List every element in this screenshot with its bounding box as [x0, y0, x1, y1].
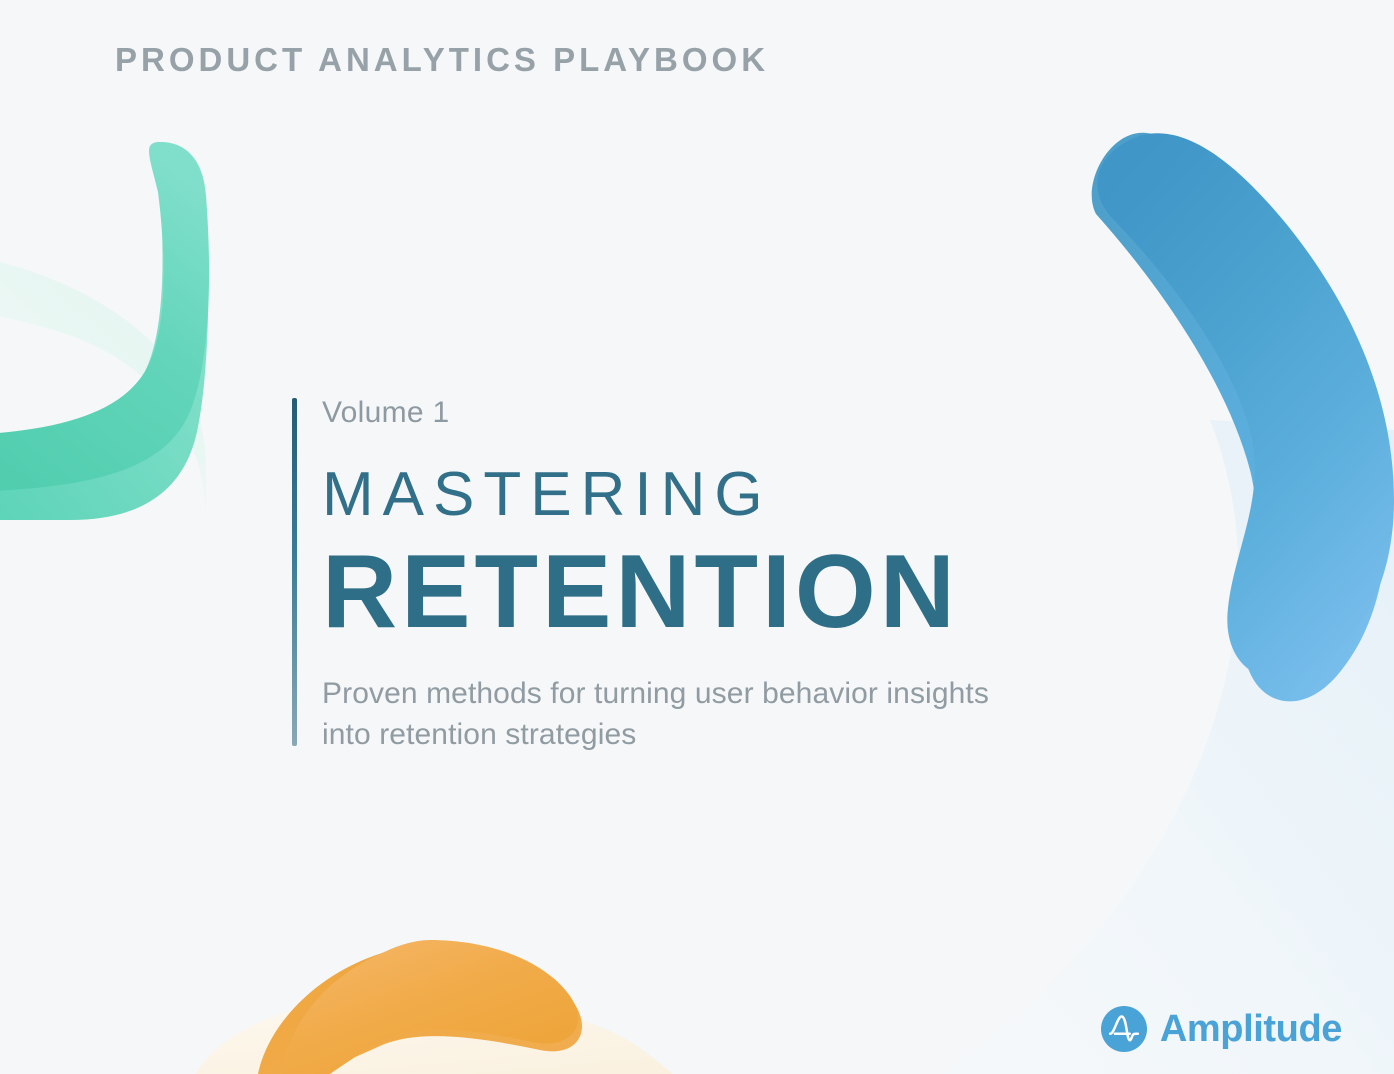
page-kicker: PRODUCT ANALYTICS PLAYBOOK — [115, 40, 769, 80]
page-title-secondary: RETENTION — [322, 540, 1102, 644]
ebook-cover-page: PRODUCT ANALYTICS PLAYBOOK Volume 1 MAST… — [0, 0, 1394, 1074]
brand-name: Amplitude — [1160, 1010, 1342, 1048]
page-subtitle: Proven methods for turning user behavior… — [322, 674, 1022, 755]
accent-bar — [292, 398, 297, 746]
orange-boomerang-shape — [196, 940, 672, 1074]
green-boomerang-shape — [0, 142, 209, 520]
volume-label: Volume 1 — [322, 398, 1102, 428]
brand-logo: Amplitude — [1101, 1006, 1342, 1052]
amplitude-logo-icon — [1101, 1006, 1147, 1052]
title-block: Volume 1 MASTERING RETENTION Proven meth… — [292, 398, 1102, 755]
page-title-primary: MASTERING — [322, 464, 1102, 526]
